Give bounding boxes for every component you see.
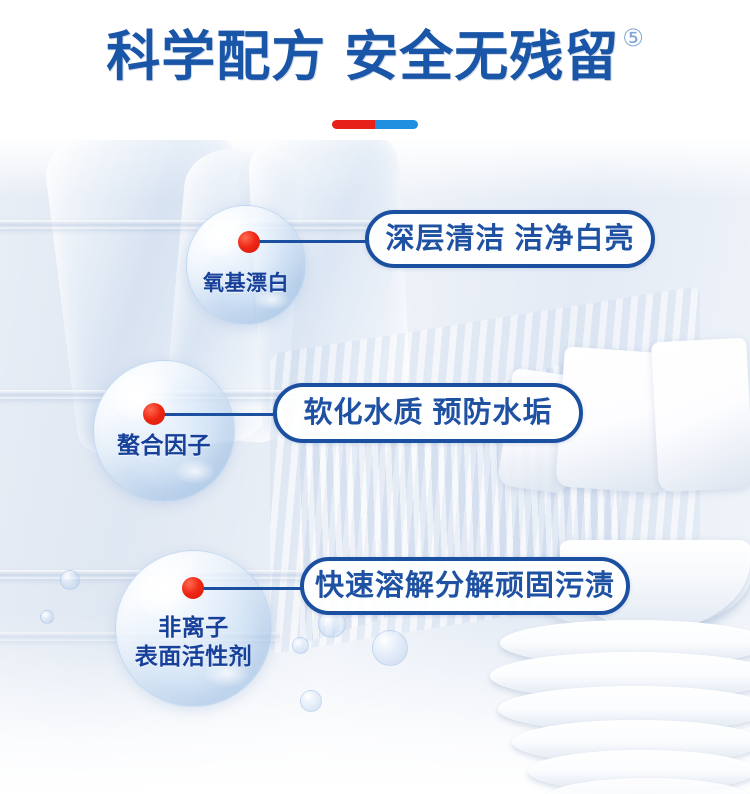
callout-red-dot-icon — [238, 231, 260, 253]
ingredient-bubble-2-label: 螯合因子 — [94, 433, 234, 458]
callout-connector-line — [198, 587, 304, 590]
page-title-part1: 科学配方 — [106, 27, 326, 87]
title-divider — [332, 120, 418, 129]
divider-blue-segment — [375, 120, 418, 129]
background-soap-bubble — [60, 570, 80, 590]
feature-pill-1-text: 深层清洁 洁净白亮 — [385, 225, 634, 254]
feature-pill-2-text: 软化水质 预防水垢 — [303, 399, 552, 428]
feature-pill-3: 快速溶解分解顽固污渍 — [300, 557, 630, 615]
callout-connector-line — [252, 240, 370, 243]
callout-red-dot-icon — [182, 577, 204, 599]
header-band: 科学配方安全无残留 ⑤ — [0, 0, 750, 140]
callout-red-dot-icon — [143, 403, 165, 425]
feature-callout-1: 氧基漂白 深层清洁 洁净白亮 — [180, 195, 660, 325]
background-soap-bubble — [40, 610, 54, 624]
ingredient-bubble-1-label: 氧基漂白 — [187, 272, 305, 295]
feature-callout-3: 非离子 表面活性剂 快速溶解分解顽固污渍 — [110, 545, 635, 710]
feature-callout-2: 螯合因子 软化水质 预防水垢 — [85, 355, 595, 505]
page-title-text: 科学配方安全无残留 — [106, 24, 619, 90]
feature-pill-1: 深层清洁 洁净白亮 — [365, 210, 655, 268]
promo-page: 科学配方安全无残留 ⑤ 氧基漂白 深层清洁 洁净白亮 螯合因子 软化水质 预防水… — [0, 0, 750, 794]
page-title: 科学配方安全无残留 ⑤ — [0, 24, 750, 90]
background-upright-plate — [651, 338, 750, 493]
callout-connector-line — [159, 413, 278, 416]
ingredient-bubble-2: 螯合因子 — [93, 360, 235, 502]
divider-red-segment — [332, 120, 375, 129]
feature-pill-3-text: 快速溶解分解顽固污渍 — [315, 572, 615, 601]
ingredient-bubble-3-label-line1: 非离子 — [116, 613, 271, 642]
feature-pill-2: 软化水质 预防水垢 — [273, 383, 583, 443]
footnote-marker: ⑤ — [622, 26, 644, 50]
page-title-part2: 安全无残留 — [344, 27, 619, 87]
ingredient-bubble-1: 氧基漂白 — [186, 205, 306, 325]
ingredient-bubble-3-label: 非离子 表面活性剂 — [116, 613, 271, 671]
ingredient-bubble-3: 非离子 表面活性剂 — [115, 550, 272, 707]
ingredient-bubble-3-label-line2: 表面活性剂 — [116, 642, 271, 671]
